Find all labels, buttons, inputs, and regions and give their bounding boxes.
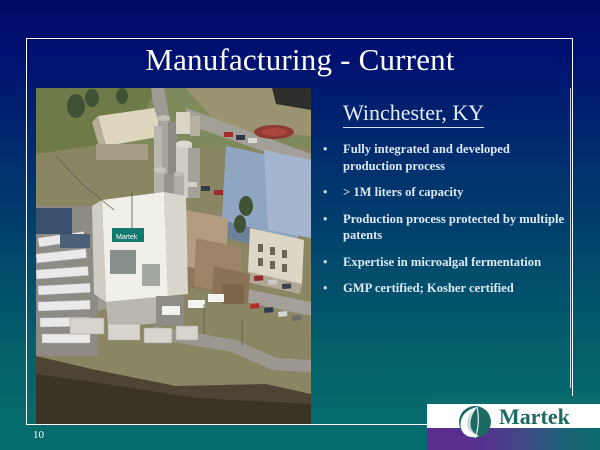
list-item: • Fully integrated and developed product… (318, 141, 568, 174)
martek-leaf-icon (455, 402, 495, 442)
aerial-photo-manufacturing-plant: Martek (36, 88, 311, 424)
bullet-list: • Fully integrated and developed product… (318, 141, 568, 297)
martek-wordmark: Martek (499, 405, 570, 428)
bullet-marker-icon: • (323, 141, 327, 158)
list-item: • Production process protected by multip… (318, 211, 568, 244)
page-number: 10 (33, 428, 44, 442)
list-item: • GMP certified; Kosher certified (318, 280, 568, 297)
list-item-text: Expertise in microalgal fermentation (343, 255, 541, 269)
bullet-marker-icon: • (323, 184, 327, 201)
list-item-text: > 1M liters of capacity (343, 185, 463, 199)
aerial-photo-graphic: Martek (36, 88, 311, 424)
svg-text:Martek: Martek (116, 234, 138, 241)
presentation-slide: Manufacturing - Current (0, 0, 600, 450)
slide-title: Manufacturing - Current (28, 42, 572, 78)
bullet-marker-icon: • (323, 211, 327, 228)
bullet-marker-icon: • (323, 280, 327, 297)
list-item-text: Production process protected by multiple… (343, 212, 564, 243)
logo-purple-band (427, 428, 600, 450)
column-divider (570, 88, 571, 388)
list-item: • Expertise in microalgal fermentation (318, 254, 568, 271)
list-item: • > 1M liters of capacity (318, 184, 568, 201)
text-column: Winchester, KY • Fully integrated and de… (318, 100, 568, 307)
location-heading: Winchester, KY (343, 100, 484, 128)
bullet-marker-icon: • (323, 254, 327, 271)
martek-logo-block: Martek (427, 396, 600, 450)
list-item-text: Fully integrated and developed productio… (343, 142, 510, 173)
logo-teal-band (427, 396, 600, 404)
list-item-text: GMP certified; Kosher certified (343, 281, 514, 295)
